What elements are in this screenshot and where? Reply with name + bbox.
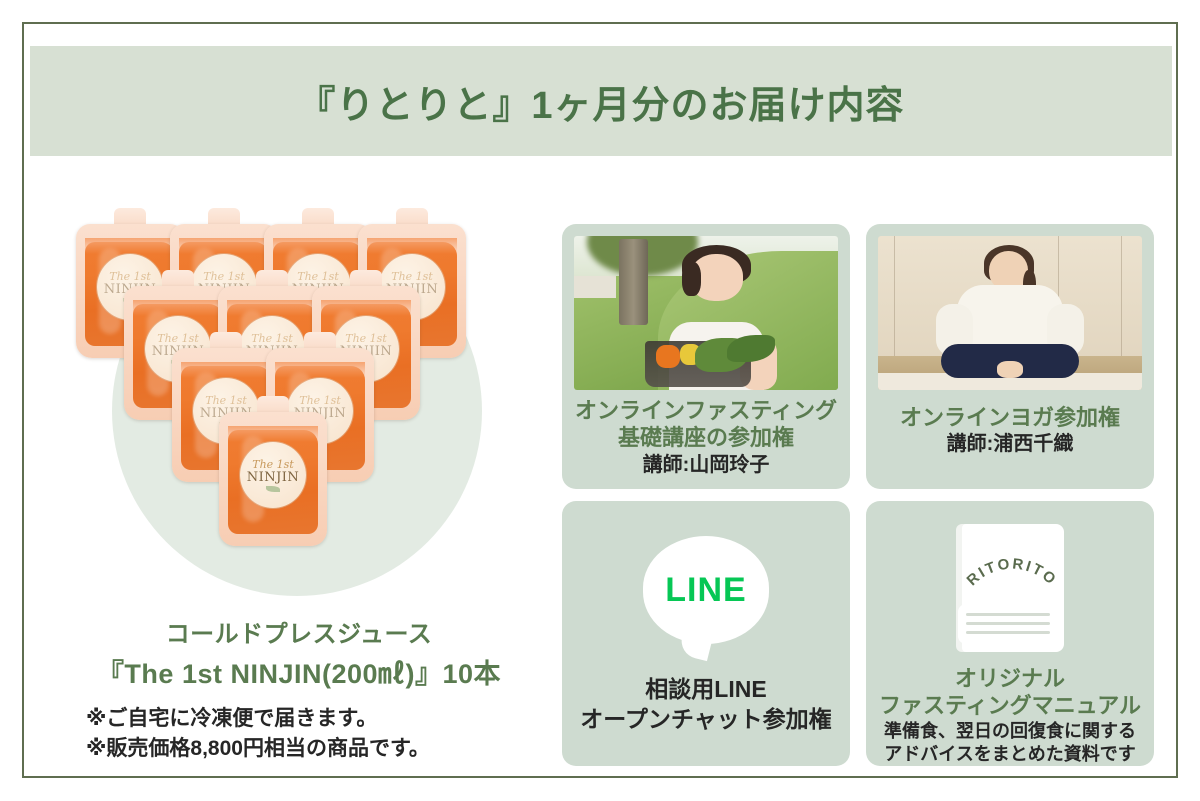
pouch-label-brand: NINJIN: [247, 471, 300, 484]
speech-bubble-icon: LINE: [643, 536, 769, 644]
online-yoga-title: オンラインヨガ参加権: [878, 404, 1142, 431]
benefit-cards-grid: オンラインファスティング 基礎講座の参加権 講師:山岡玲子: [562, 224, 1136, 766]
online-yoga-text: オンラインヨガ参加権 講師:浦西千織: [878, 404, 1142, 457]
line-open-chat-title-line2: オープンチャット参加権: [574, 705, 838, 735]
line-logo-icon: LINE: [574, 513, 838, 667]
juice-pouch-front: The 1st NINJIN: [219, 396, 327, 546]
fasting-course-title-line2: 基礎講座の参加権: [574, 424, 838, 451]
fasting-manual-desc-line1: 準備食、翌日の回復食に関する: [878, 720, 1142, 743]
line-logo-text: LINE: [665, 571, 746, 610]
card-online-yoga[interactable]: オンラインヨガ参加権 講師:浦西千織: [866, 224, 1154, 489]
product-note-1: ※ご自宅に冷凍便で届きます。: [86, 704, 534, 734]
product-section: The 1st NINJIN The 1st NINJIN: [64, 184, 534, 764]
fasting-manual-title-line2: ファスティングマニュアル: [878, 692, 1142, 719]
product-title-line2: 『The 1st NINJIN(200㎖)』10本: [64, 652, 534, 691]
pouch-label-script: The 1st: [252, 459, 294, 470]
online-yoga-photo: [878, 236, 1142, 390]
line-open-chat-title-line1: 相談用LINE: [574, 675, 838, 705]
book-icon: RITORITO: [878, 513, 1142, 663]
juice-pouch-stack: The 1st NINJIN The 1st NINJIN: [64, 184, 534, 604]
leaf-icon: [266, 486, 280, 492]
card-line-open-chat[interactable]: LINE 相談用LINE オープンチャット参加権: [562, 501, 850, 766]
fasting-manual-text: オリジナル ファスティングマニュアル 準備食、翌日の回復食に関する アドバイスを…: [878, 665, 1142, 766]
page-frame: 『りとりと』1ヶ月分のお届け内容 The 1st NINJIN: [22, 22, 1178, 778]
fasting-course-instructor: 講師:山岡玲子: [574, 452, 838, 478]
header-banner: 『りとりと』1ヶ月分のお届け内容: [30, 46, 1172, 156]
page-title: 『りとりと』1ヶ月分のお届け内容: [297, 74, 904, 129]
fasting-manual-title-line1: オリジナル: [878, 665, 1142, 692]
fasting-course-title-line1: オンラインファスティング: [574, 397, 838, 424]
book-brand-text: RITORITO: [956, 546, 1064, 606]
fasting-manual-desc-line2: アドバイスをまとめた資料です: [878, 743, 1142, 766]
book-brand-textpath: RITORITO: [964, 555, 1061, 589]
main-content: The 1st NINJIN The 1st NINJIN: [24, 170, 1176, 776]
card-fasting-manual[interactable]: RITORITO オリジナル ファスティングマニュアル 準備食、翌日の回復食に関…: [866, 501, 1154, 766]
fasting-course-photo: [574, 236, 838, 390]
product-note-2: ※販売価格8,800円相当の商品です。: [86, 734, 534, 764]
online-yoga-instructor: 講師:浦西千織: [878, 431, 1142, 457]
product-title-line1: コールドプレスジュース: [64, 614, 534, 649]
svg-text:RITORITO: RITORITO: [964, 555, 1061, 589]
fasting-course-text: オンラインファスティング 基礎講座の参加権 講師:山岡玲子: [574, 397, 838, 478]
line-open-chat-text: 相談用LINE オープンチャット参加権: [574, 675, 838, 735]
pouch-label: The 1st NINJIN: [240, 442, 306, 508]
product-notes: ※ご自宅に冷凍便で届きます。 ※販売価格8,800円相当の商品です。: [64, 704, 534, 764]
card-fasting-course[interactable]: オンラインファスティング 基礎講座の参加権 講師:山岡玲子: [562, 224, 850, 489]
product-caption: コールドプレスジュース 『The 1st NINJIN(200㎖)』10本 ※ご…: [64, 614, 534, 764]
